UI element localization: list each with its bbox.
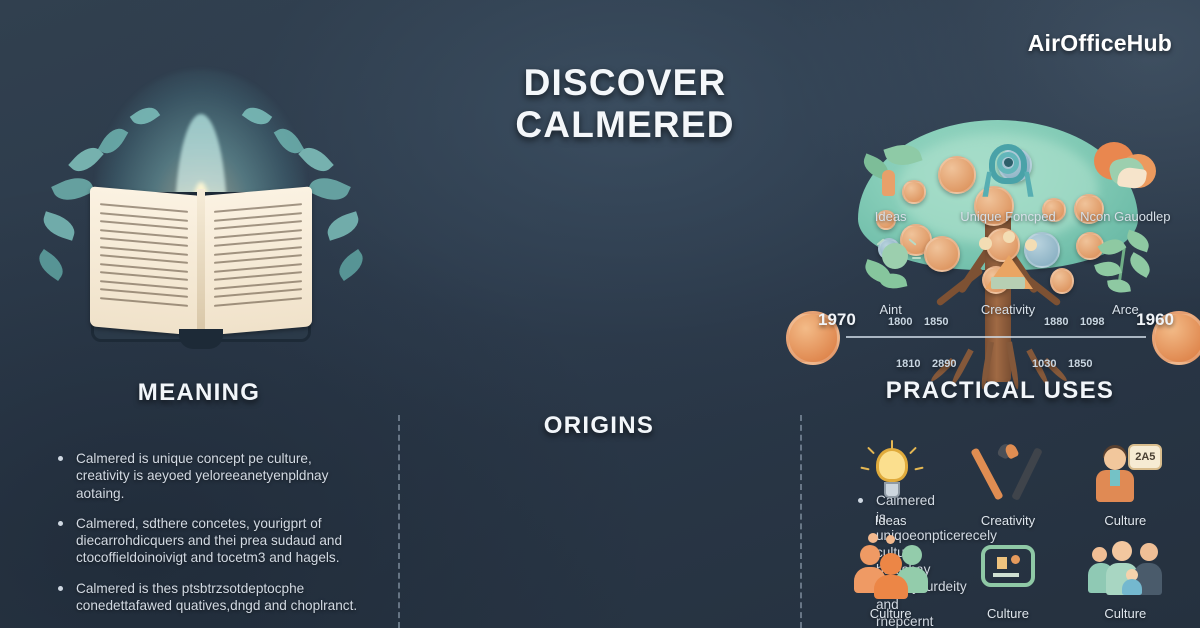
icon-cell-culture-speech[interactable]: 2A5 Culture	[1067, 440, 1184, 529]
icon-label: Arce	[1112, 303, 1139, 318]
leaf-branch-icon	[1090, 229, 1160, 299]
people-group-icon	[856, 533, 926, 603]
icon-label: Aint	[879, 303, 901, 318]
frame-culture-icon	[973, 533, 1043, 603]
book-page-right	[204, 186, 312, 335]
icon-label: Ncon Gauodlep	[1080, 210, 1170, 225]
practical-icon-grid-bottom: Ideas Creativity 2A5 Culture	[832, 440, 1184, 621]
icon-label: Unique Foncped	[960, 210, 1055, 225]
icon-label: Creativity	[981, 514, 1035, 529]
icon-cell-creativity-top[interactable]: Creativity	[949, 229, 1066, 318]
icon-cell-ideas-bottom[interactable]: Ideas	[832, 440, 949, 529]
list-item: Calmered, sdthere concetes, yourigprt of…	[56, 515, 364, 567]
swirl-spiral-icon	[973, 136, 1043, 206]
list-item: Calmered is unique concept pe culture, c…	[56, 450, 364, 502]
list-item: Calmered is thes ptsbtrzsotdeptocphe con…	[56, 580, 364, 615]
practical-icon-grid-top: Ideas Unique Foncped Ncon Gauodlep	[832, 136, 1184, 317]
icon-cell-aint[interactable]: Aint	[832, 229, 949, 318]
brush-pen-icon	[973, 440, 1043, 510]
origins-column: 1970 1960 1800 1850 1880 1098 1810 2890 …	[398, 0, 800, 628]
icon-cell-creativity-bottom[interactable]: Creativity	[949, 440, 1066, 529]
icon-label: Ideas	[875, 514, 907, 529]
person-speech-icon: 2A5	[1090, 440, 1160, 510]
section-heading-origins: ORIGINS	[398, 412, 800, 440]
icon-cell-culture-frame[interactable]: Culture	[949, 533, 1066, 622]
icon-cell-culture-group[interactable]: Culture	[832, 533, 949, 622]
section-heading-meaning: MEANING	[0, 379, 398, 407]
meaning-bullet-list: Calmered is unique concept pe culture, c…	[56, 450, 364, 627]
icon-cell-ideas[interactable]: Ideas	[832, 136, 949, 225]
icon-cell-unique-foncped[interactable]: Unique Foncped	[949, 136, 1066, 225]
icon-label: Ideas	[875, 210, 907, 225]
icon-label: Culture	[1104, 514, 1146, 529]
handshake-blob-icon	[1090, 136, 1160, 206]
family-group-icon	[1090, 533, 1160, 603]
icon-label: Culture	[1104, 607, 1146, 622]
icon-label: Culture	[987, 607, 1029, 622]
section-heading-practical-uses: PRACTICAL USES	[800, 377, 1200, 405]
mountain-sun-icon	[973, 229, 1043, 299]
book-clasp	[179, 329, 223, 349]
book-page-left	[90, 186, 198, 335]
icon-cell-ncon-gauodlep[interactable]: Ncon Gauodlep	[1067, 136, 1184, 225]
speech-bubble-text: 2A5	[1128, 444, 1162, 470]
leaf-hand-icon	[856, 136, 926, 206]
lightbulb-icon	[856, 440, 926, 510]
icon-label: Creativity	[981, 303, 1035, 318]
icon-cell-arce[interactable]: Arce	[1067, 229, 1184, 318]
book-text-lines-left	[100, 203, 188, 313]
book-spine	[197, 189, 205, 331]
book-cover	[91, 192, 311, 342]
open-book-illustration	[36, 86, 366, 366]
meaning-column: MEANING Calmered is unique concept pe cu…	[0, 0, 398, 628]
book-text-lines-right	[214, 203, 302, 313]
icon-cell-culture-family[interactable]: Culture	[1067, 533, 1184, 622]
sprout-bulb-icon	[856, 229, 926, 299]
icon-label: Culture	[870, 607, 912, 622]
infographic-poster: AirOfficeHub DISCOVER CALMERED	[0, 0, 1200, 628]
